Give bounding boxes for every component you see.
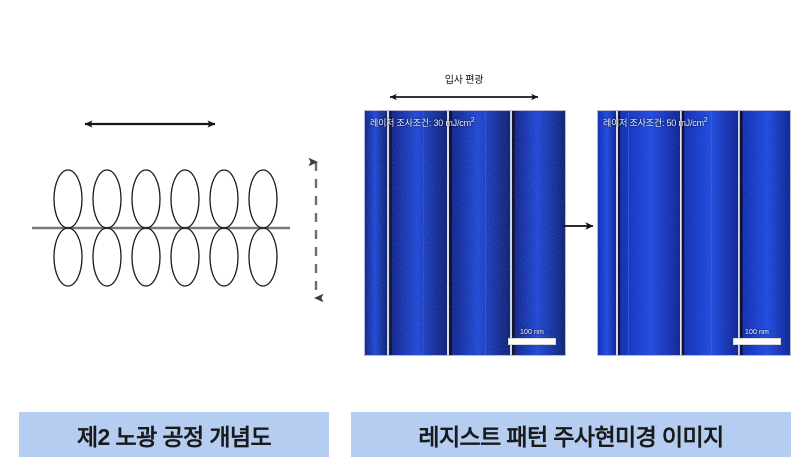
- caption-concept-diagram: 제2 노광 공정 개념도: [19, 412, 329, 457]
- sem-dose-value: 30 mJ/cm: [433, 118, 470, 128]
- concept-diagram-panel: [0, 0, 352, 400]
- sem-dose-exponent: 2: [471, 117, 475, 124]
- scalebar-label: 100 nm: [508, 328, 556, 337]
- scalebar-label: 100 nm: [733, 328, 781, 337]
- sem-micrograph-30mj: [365, 111, 565, 355]
- sem-micrograph-50mj: [598, 111, 790, 355]
- incident-polarization-annotation: 입사 편광: [364, 74, 564, 106]
- concept-diagram-svg: [0, 0, 352, 400]
- process-transition-arrow-icon: [562, 218, 600, 234]
- incident-polarization-label: 입사 편광: [364, 74, 564, 87]
- sem-image-30mj[interactable]: 레이저 조사조건: 30 mJ/cm2 100 nm: [364, 110, 566, 356]
- figure-page: 입사 편광: [0, 0, 810, 469]
- scalebar-rule: [733, 338, 781, 345]
- sem-image-50mj[interactable]: 레이저 조사조건: 50 mJ/cm2 100 nm: [597, 110, 791, 356]
- polarization-double-arrow-icon: [364, 90, 564, 104]
- sem-label-50mj: 레이저 조사조건: 50 mJ/cm2: [603, 115, 708, 129]
- sem-dose-value: 50 mJ/cm: [666, 118, 703, 128]
- sem-label-30mj: 레이저 조사조건: 30 mJ/cm2: [370, 115, 475, 129]
- scalebar-rule: [508, 338, 556, 345]
- sem-dose-exponent: 2: [704, 117, 708, 124]
- scalebar-30mj: 100 nm: [508, 328, 556, 345]
- sem-label-prefix: 레이저 조사조건:: [370, 118, 433, 128]
- caption-sem-images: 레지스트 패턴 주사현미경 이미지: [351, 412, 791, 457]
- sem-label-prefix: 레이저 조사조건:: [603, 118, 666, 128]
- sem-panel: 입사 편광: [352, 0, 810, 400]
- scalebar-50mj: 100 nm: [733, 328, 781, 345]
